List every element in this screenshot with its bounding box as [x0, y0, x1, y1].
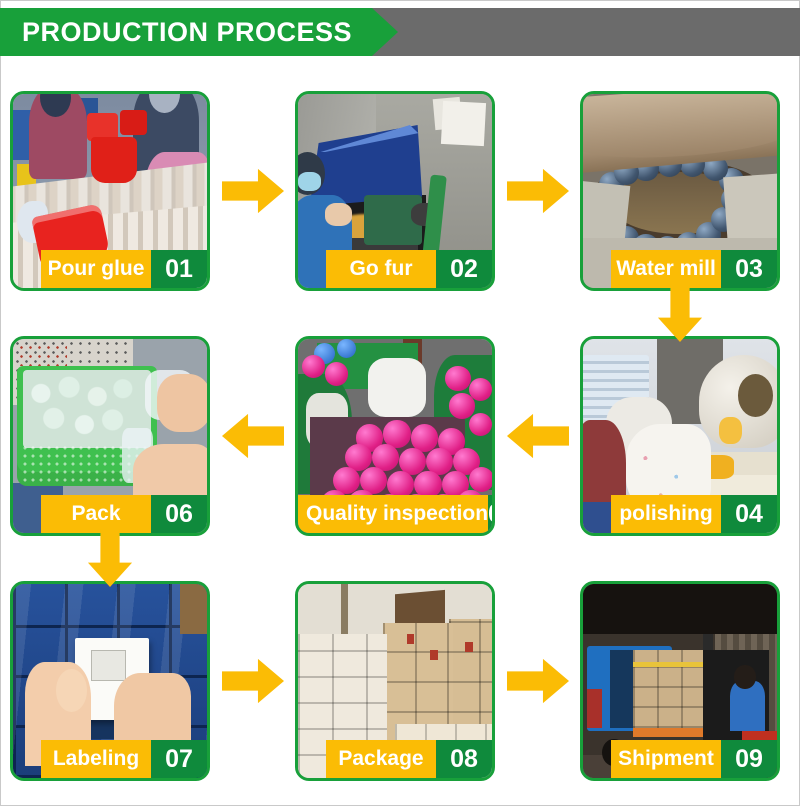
step-label-text-07: Labeling — [41, 740, 151, 778]
step-card-06[interactable]: Pack 06 — [10, 336, 210, 536]
step-card-04[interactable]: polishing 04 — [580, 336, 780, 536]
arrow-step-08-to-09 — [507, 657, 569, 705]
arrow-step-07-to-08 — [222, 657, 284, 705]
step-card-08[interactable]: Package 08 — [295, 581, 495, 781]
step-number-05: 05 — [488, 495, 495, 533]
header-banner: PRODUCTION PROCESS — [0, 8, 800, 56]
step-card-02[interactable]: Go fur 02 — [295, 91, 495, 291]
step-card-03[interactable]: Water mill 03 — [580, 91, 780, 291]
arrow-step-02-to-03 — [507, 167, 569, 215]
step-label-text-04: polishing — [611, 495, 721, 533]
page-title: PRODUCTION PROCESS — [22, 8, 352, 56]
step-number-09: 09 — [721, 740, 777, 778]
step-card-01[interactable]: Pour glue 01 — [10, 91, 210, 291]
step-label-07: Labeling 07 — [41, 740, 207, 778]
arrow-step-03-to-04 — [656, 284, 704, 342]
step-label-04: polishing 04 — [611, 495, 777, 533]
step-number-08: 08 — [436, 740, 492, 778]
arrow-step-06-to-07 — [86, 529, 134, 587]
arrow-step-04-to-05 — [507, 412, 569, 460]
step-label-text-06: Pack — [41, 495, 151, 533]
step-label-text-09: Shipment — [611, 740, 721, 778]
step-number-06: 06 — [151, 495, 207, 533]
step-number-03: 03 — [721, 250, 777, 288]
step-label-text-05: Quality inspection — [298, 495, 488, 533]
step-label-text-02: Go fur — [326, 250, 436, 288]
step-label-09: Shipment 09 — [611, 740, 777, 778]
process-row-2: Pack 06 — [0, 336, 800, 536]
step-label-02: Go fur 02 — [326, 250, 492, 288]
step-label-06: Pack 06 — [41, 495, 207, 533]
step-label-08: Package 08 — [326, 740, 492, 778]
arrow-step-05-to-06 — [222, 412, 284, 460]
step-number-01: 01 — [151, 250, 207, 288]
arrow-step-01-to-02 — [222, 167, 284, 215]
step-label-text-08: Package — [326, 740, 436, 778]
step-label-03: Water mill 03 — [611, 250, 777, 288]
process-row-3: Labeling 07 Package 08 — [0, 581, 800, 781]
step-number-04: 04 — [721, 495, 777, 533]
step-card-09[interactable]: Shipment 09 — [580, 581, 780, 781]
step-card-05[interactable]: Quality inspection 05 — [295, 336, 495, 536]
process-row-1: Pour glue 01 Go fur 02 — [0, 91, 800, 291]
process-grid: Pour glue 01 Go fur 02 — [0, 62, 800, 804]
step-number-02: 02 — [436, 250, 492, 288]
step-number-07: 07 — [151, 740, 207, 778]
step-label-01: Pour glue 01 — [41, 250, 207, 288]
step-label-text-03: Water mill — [611, 250, 721, 288]
step-card-07[interactable]: Labeling 07 — [10, 581, 210, 781]
step-label-text-01: Pour glue — [41, 250, 151, 288]
step-label-05: Quality inspection 05 — [298, 495, 492, 533]
